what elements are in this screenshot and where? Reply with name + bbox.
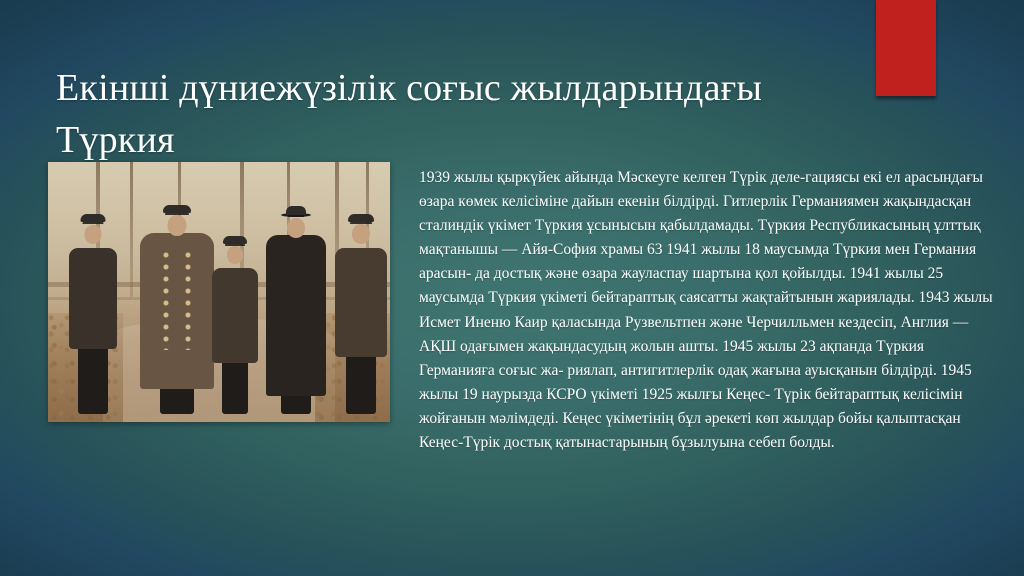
peaked-cap-icon	[163, 205, 191, 213]
person-figure	[263, 191, 329, 415]
legs	[222, 355, 248, 414]
photo-background	[48, 162, 390, 422]
head	[287, 218, 305, 238]
torso	[69, 248, 117, 348]
person-figure	[137, 185, 217, 414]
slide-title: Екінші дүниежүзілік соғыс жылдарындағы Т…	[56, 63, 876, 166]
head	[352, 224, 370, 244]
person-figure	[332, 196, 390, 414]
person-figure	[209, 217, 261, 415]
boots	[346, 349, 376, 415]
legs	[78, 340, 108, 414]
overcoat	[266, 235, 326, 396]
tree-icon	[130, 162, 133, 297]
body-paragraph: 1939 жылы қыркүйек айында Мәскеуге келге…	[419, 166, 997, 455]
coat-buttons	[162, 249, 192, 350]
fedora-crown-icon	[286, 206, 306, 215]
peaked-cap-icon	[81, 214, 106, 222]
body-text-block: 1939 жылы қыркүйек айында Мәскеуге келге…	[419, 166, 997, 455]
historical-photo	[48, 162, 390, 422]
head	[227, 246, 243, 264]
peaked-cap-icon	[348, 214, 374, 222]
peaked-cap-icon	[223, 236, 247, 244]
person-figure	[65, 196, 121, 414]
head	[167, 215, 186, 236]
head	[85, 225, 102, 244]
torso	[212, 268, 258, 363]
red-accent-bar	[876, 0, 936, 96]
presentation-slide: Екінші дүниежүзілік соғыс жылдарындағы Т…	[0, 0, 1024, 576]
torso	[335, 248, 387, 357]
